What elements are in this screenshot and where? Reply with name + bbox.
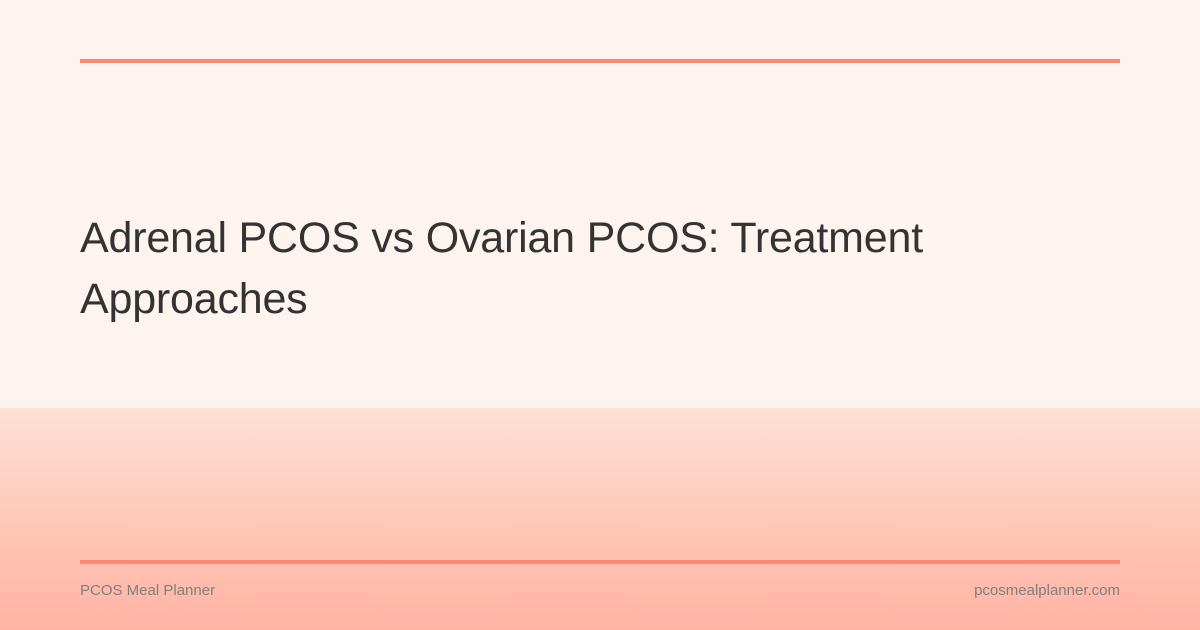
card-footer: PCOS Meal Planner pcosmealplanner.com	[80, 580, 1120, 602]
footer-site-url: pcosmealplanner.com	[974, 580, 1120, 602]
title-block: Adrenal PCOS vs Ovarian PCOS: Treatment …	[80, 208, 1100, 330]
bottom-accent-rule	[80, 560, 1120, 564]
page-title: Adrenal PCOS vs Ovarian PCOS: Treatment …	[80, 208, 1100, 330]
top-accent-rule	[80, 59, 1120, 63]
share-card: Adrenal PCOS vs Ovarian PCOS: Treatment …	[0, 0, 1200, 630]
footer-brand-label: PCOS Meal Planner	[80, 580, 215, 602]
